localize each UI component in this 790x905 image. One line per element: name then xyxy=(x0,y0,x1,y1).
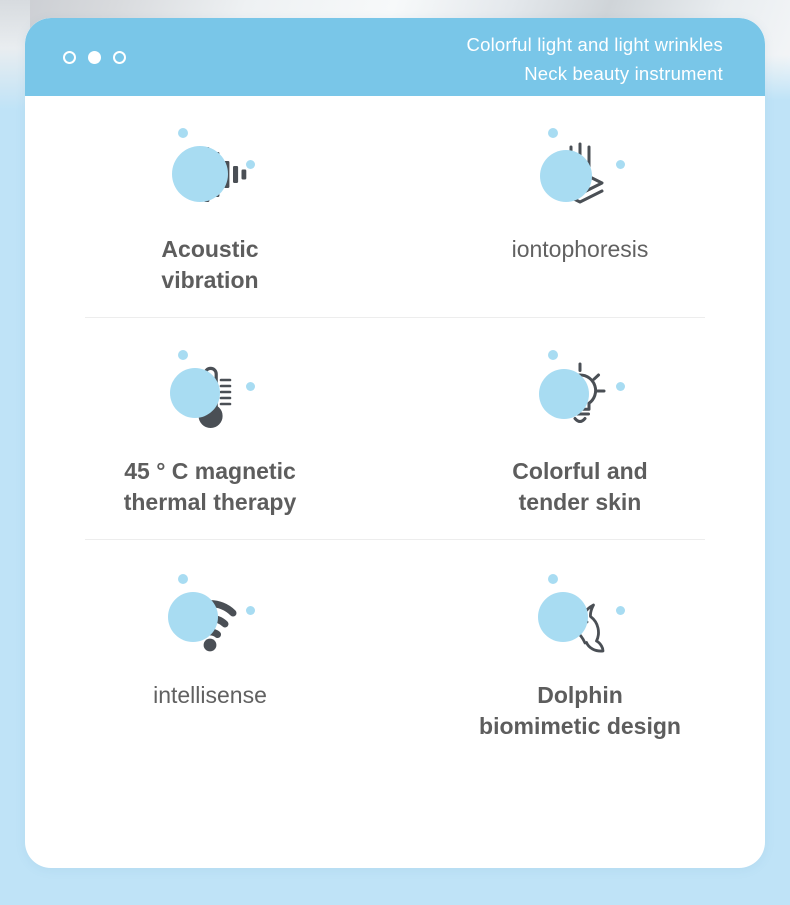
card-title-line1: Colorful light and light wrinkles xyxy=(467,30,723,59)
decor-dot-right xyxy=(246,382,255,391)
dot-hollow-1[interactable] xyxy=(63,51,76,64)
feature-item-acoustic-vibration[interactable]: Acoustic vibration xyxy=(25,96,395,318)
feature-label: iontophoresis xyxy=(512,234,649,265)
iontophoresis-icon-wrap xyxy=(520,124,640,224)
icon-blob xyxy=(170,368,220,418)
icon-blob xyxy=(168,592,218,642)
decor-dot-top xyxy=(548,350,558,360)
feature-label: Colorful and tender skin xyxy=(512,456,647,518)
feature-label-line1: Colorful and xyxy=(512,456,647,487)
feature-item-iontophoresis[interactable]: iontophoresis xyxy=(395,96,765,318)
feature-row-3: intellisense xyxy=(25,540,765,762)
dot-hollow-3[interactable] xyxy=(113,51,126,64)
feature-label-line2: biomimetic design xyxy=(479,711,681,742)
decor-dot-right xyxy=(616,382,625,391)
feature-row-1: Acoustic vibration xyxy=(25,96,765,318)
feature-label: intellisense xyxy=(153,680,267,711)
feature-item-intellisense[interactable]: intellisense xyxy=(25,540,395,762)
feature-label: 45 ° C magnetic thermal therapy xyxy=(124,456,297,518)
feature-item-thermal-therapy[interactable]: 45 ° C magnetic thermal therapy xyxy=(25,318,395,540)
feature-label-line2: thermal therapy xyxy=(124,487,297,518)
feature-label-line1: intellisense xyxy=(153,680,267,711)
wifi-icon-wrap xyxy=(150,570,270,670)
decor-dot-right xyxy=(246,606,255,615)
decor-dot-top xyxy=(178,574,188,584)
feature-item-tender-skin[interactable]: Colorful and tender skin xyxy=(395,318,765,540)
icon-blob xyxy=(172,146,228,202)
feature-item-dolphin-design[interactable]: Dolphin biomimetic design xyxy=(395,540,765,762)
decor-dot-top xyxy=(178,128,188,138)
icon-blob xyxy=(539,369,589,419)
window-dots xyxy=(63,18,126,96)
decor-dot-right xyxy=(246,160,255,169)
feature-label-line1: 45 ° C magnetic xyxy=(124,456,297,487)
feature-label: Dolphin biomimetic design xyxy=(479,680,681,742)
card-title-line2: Neck beauty instrument xyxy=(467,59,723,88)
decor-dot-top xyxy=(548,574,558,584)
dot-solid-2[interactable] xyxy=(88,51,101,64)
dolphin-icon-wrap xyxy=(520,570,640,670)
feature-label-line1: Acoustic xyxy=(161,234,258,265)
card-title: Colorful light and light wrinkles Neck b… xyxy=(467,30,723,88)
feature-label-line1: iontophoresis xyxy=(512,234,649,265)
feature-label-line1: Dolphin xyxy=(479,680,681,711)
icon-blob xyxy=(540,150,592,202)
decor-dot-top xyxy=(548,128,558,138)
feature-label-line2: tender skin xyxy=(512,487,647,518)
card-header: Colorful light and light wrinkles Neck b… xyxy=(25,18,765,96)
feature-card: Colorful light and light wrinkles Neck b… xyxy=(25,18,765,868)
decor-dot-right xyxy=(616,160,625,169)
thermometer-icon-wrap xyxy=(150,346,270,446)
feature-label: Acoustic vibration xyxy=(161,234,258,296)
decor-dot-top xyxy=(178,350,188,360)
feature-label-line2: vibration xyxy=(161,265,258,296)
icon-blob xyxy=(538,592,588,642)
lightbulb-icon-wrap xyxy=(520,346,640,446)
decor-dot-right xyxy=(616,606,625,615)
feature-grid: Acoustic vibration xyxy=(25,96,765,762)
feature-row-2: 45 ° C magnetic thermal therapy xyxy=(25,318,765,540)
sound-wave-icon-wrap xyxy=(150,124,270,224)
